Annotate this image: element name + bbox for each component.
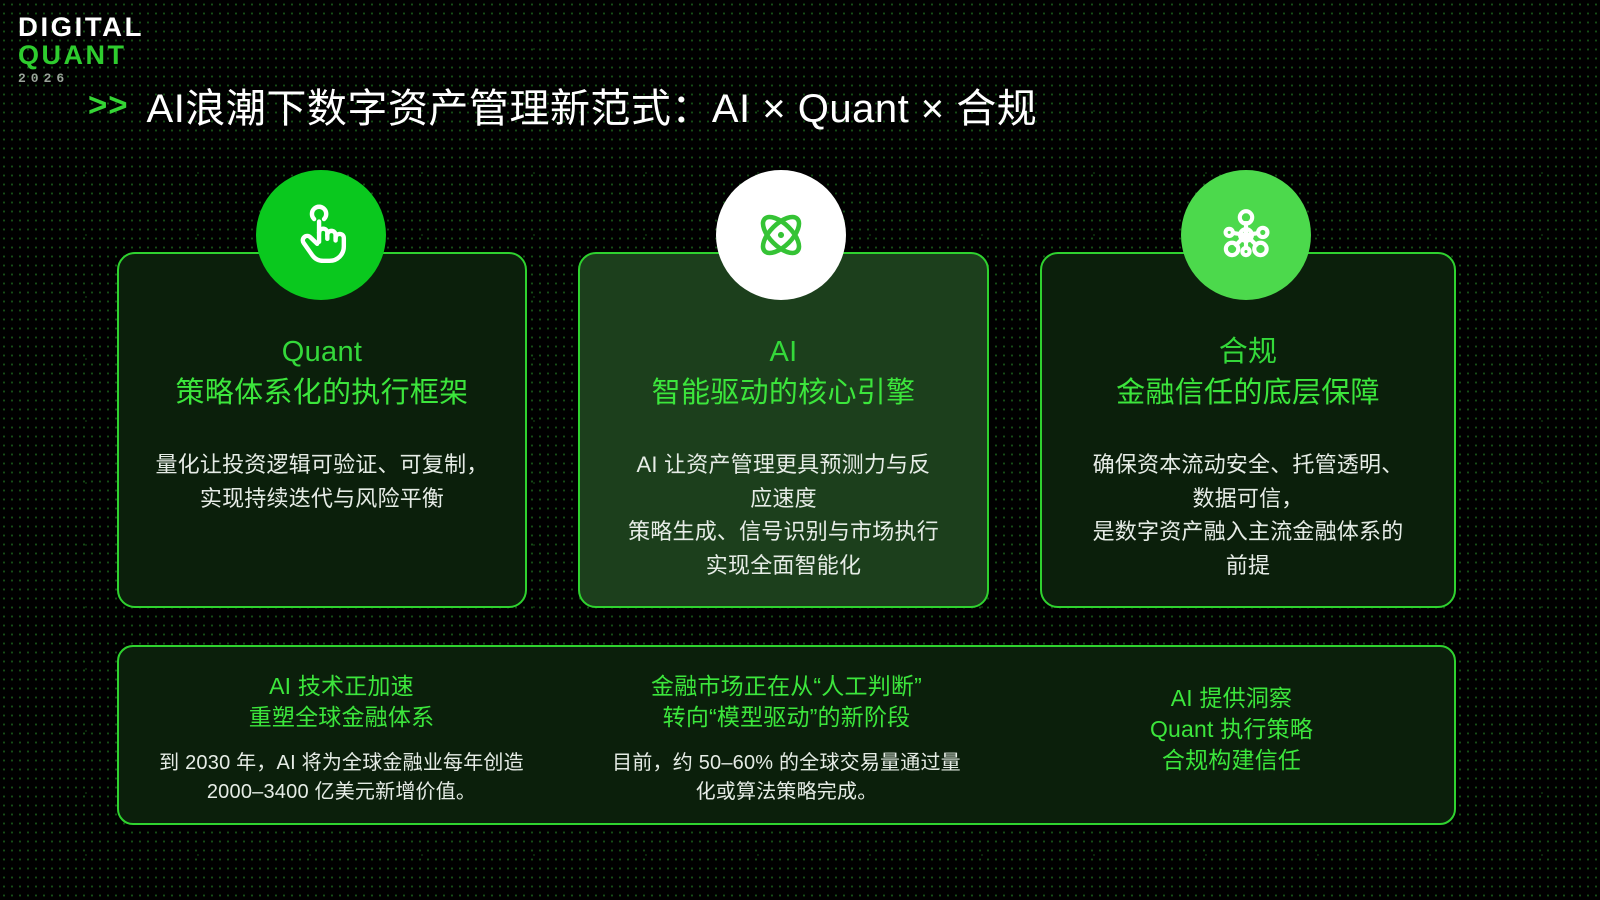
card-title: Quant [149,332,495,373]
card-subtitle: 智能驱动的核心引擎 [610,373,957,414]
insight-column-ai-growth: AI 技术正加速重塑全球金融体系 到 2030 年，AI 将为全球金融业每年创造… [119,647,564,823]
atom-icon [716,170,846,300]
card-body: 量化让投资逻辑可验证、可复制，实现持续迭代与风险平衡 [149,448,495,515]
card-subtitle: 金融信任的底层保障 [1072,373,1424,414]
card-title: 合规 [1072,332,1424,373]
insight-detail: 目前，约 50–60% 的全球交易量通过量化或算法策略完成。 [590,749,983,807]
hand-tap-icon [256,170,386,300]
insight-panel: AI 技术正加速重塑全球金融体系 到 2030 年，AI 将为全球金融业每年创造… [117,645,1456,825]
insight-column-market-shift: 金融市场正在从“人工判断”转向“模型驱动”的新阶段 目前，约 50–60% 的全… [564,647,1009,823]
pillar-card-ai[interactable]: AI 智能驱动的核心引擎 AI 让资产管理更具预测力与反应速度策略生成、信号识别… [578,252,989,608]
card-subtitle: 策略体系化的执行框架 [149,373,495,414]
insight-headline: AI 提供洞察Quant 执行策略合规构建信任 [1035,683,1428,775]
slide-root: DIGITAL QUANT 2026 >> AI浪潮下数字资产管理新范式：AI … [0,0,1600,900]
pillar-card-compliance[interactable]: 合规 金融信任的底层保障 确保资本流动安全、托管透明、数据可信，是数字资产融入主… [1040,252,1456,608]
network-nodes-icon [1181,170,1311,300]
card-title: AI [610,332,957,373]
insight-column-summary: AI 提供洞察Quant 执行策略合规构建信任 [1009,647,1454,823]
insight-detail: 到 2030 年，AI 将为全球金融业每年创造2000–3400 亿美元新增价值… [145,749,538,807]
insight-headline: AI 技术正加速重塑全球金融体系 [145,671,538,733]
pillar-card-quant[interactable]: Quant 策略体系化的执行框架 量化让投资逻辑可验证、可复制，实现持续迭代与风… [117,252,527,608]
card-body: 确保资本流动安全、托管透明、数据可信，是数字资产融入主流金融体系的前提 [1072,448,1424,582]
insight-headline: 金融市场正在从“人工判断”转向“模型驱动”的新阶段 [590,671,983,733]
card-body: AI 让资产管理更具预测力与反应速度策略生成、信号识别与市场执行实现全面智能化 [610,448,957,582]
